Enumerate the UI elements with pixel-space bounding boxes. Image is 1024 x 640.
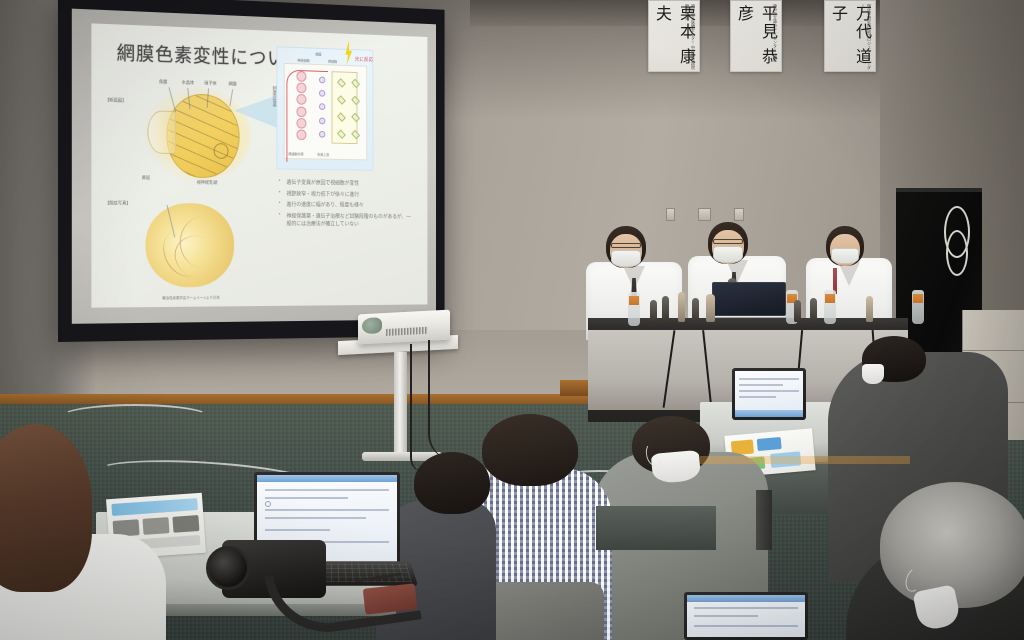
- projector-lens: [362, 317, 382, 334]
- smartphone[interactable]: [363, 583, 417, 614]
- bipolar-cell: [319, 104, 325, 111]
- microphone[interactable]: [706, 294, 715, 322]
- microphone[interactable]: [866, 296, 873, 322]
- eye-section-label: 【断面図】: [105, 97, 126, 104]
- rpe-layer-box: [332, 71, 358, 144]
- fundus-photo: [146, 203, 235, 288]
- rpe-cell: [351, 130, 360, 139]
- bullet-item: 遺伝子変異が原因で視細胞が変性: [278, 179, 413, 188]
- doc-line: [739, 396, 776, 398]
- slide-bullet-list: 遺伝子変異が原因で視細胞が変性 視野狭窄・視力低下が徐々に進行 進行の速度に幅が…: [278, 179, 413, 232]
- wall-switch-1[interactable]: [666, 208, 675, 221]
- press-laptop-right[interactable]: [732, 368, 806, 420]
- face-mask: [713, 246, 743, 263]
- hair: [414, 452, 490, 514]
- bullet-item: 進行の速度に幅があり、程度も様々: [278, 201, 413, 210]
- fundus-caption: 難治性疾患学会ホームページより引用: [140, 296, 242, 302]
- doc-line: [739, 384, 783, 386]
- retina-sublabel-neuron: 神経細胞: [297, 58, 309, 63]
- hair: [482, 414, 578, 486]
- doc-taskbar: [735, 410, 803, 417]
- wall-switch-3[interactable]: [734, 208, 744, 221]
- eye-label-lens: 水晶体: [182, 80, 194, 86]
- bipolar-cell: [319, 131, 325, 138]
- camera-lens: [206, 546, 250, 590]
- rod-cell: [296, 106, 306, 117]
- microphone[interactable]: [692, 298, 699, 322]
- doc-line: [694, 607, 798, 609]
- bipolar-cell: [319, 76, 325, 83]
- projector-vent: [386, 327, 428, 336]
- rpe-cell: [351, 113, 360, 122]
- signal-transmission-label: 刺激の伝達: [271, 86, 276, 107]
- face-mask: [831, 248, 859, 264]
- bipolar-cell: [319, 90, 325, 97]
- doc-line: [265, 517, 366, 519]
- press-laptop-bottom-lid: [684, 592, 808, 640]
- coiled-cable: [946, 230, 968, 276]
- microphone[interactable]: [810, 298, 817, 322]
- rod-cell: [296, 130, 306, 141]
- water-bottle[interactable]: [824, 290, 836, 324]
- eye-label-optic-disc: 視神経乳頭: [197, 180, 218, 186]
- microphone[interactable]: [650, 300, 657, 322]
- glasses-icon: [713, 239, 743, 244]
- fundus-section-label: 【眼底写真】: [105, 200, 130, 206]
- bullet-item: 視野狭窄・視力低下が徐々に進行: [278, 190, 413, 199]
- doc-line: [265, 529, 329, 531]
- desk-underside: [596, 506, 716, 550]
- rpe-cell: [337, 112, 346, 121]
- microphone[interactable]: [678, 292, 685, 322]
- desk-trim: [700, 456, 910, 464]
- slide-title: 網膜色素変性について: [117, 38, 304, 71]
- projector-stand-pole: [394, 352, 407, 456]
- rod-cell: [296, 118, 306, 129]
- doc-titlebar: [257, 475, 397, 482]
- cornea-shape: [147, 110, 176, 154]
- floor-cable-1: [60, 404, 210, 430]
- press-laptop-bottom-screen: [687, 595, 805, 637]
- doc-line: [265, 509, 388, 511]
- press-laptop-bottom-right[interactable]: [684, 592, 808, 640]
- press-laptop-right-lid: [732, 368, 806, 420]
- rod-cell: [296, 94, 306, 105]
- bipolar-cell: [319, 117, 325, 124]
- doc-titlebar: [687, 595, 805, 602]
- presentation-slide: 網膜色素変性について 角膜 水晶体 硝子体 網膜 【断面図】 黄斑: [91, 23, 427, 307]
- water-bottle[interactable]: [912, 290, 924, 324]
- bipolar-cell-column: [315, 73, 328, 142]
- nameplate-center: 平見 恭彦 神戸市立神戸アイセンター 病院: [730, 0, 782, 72]
- fundus-photograph-block: 【眼底写真】 難治性疾患学会ホームページより引用: [134, 199, 247, 302]
- handout-figure: [757, 437, 782, 451]
- water-bottle[interactable]: [628, 292, 640, 326]
- doc-line: [694, 625, 798, 627]
- eye-label-cornea: 角膜: [159, 79, 167, 85]
- screen-surface: 網膜色素変性について 角膜 水晶体 硝子体 網膜 【断面図】 黄斑: [72, 9, 436, 324]
- doc-line: [694, 615, 758, 617]
- nameplate-right: 万代 道子 理化学研究所 副プロジェクトリーダー: [824, 0, 876, 72]
- projector-cable-1: [428, 340, 454, 460]
- retina-bottom-label-outer: 視細胞外節: [288, 151, 303, 156]
- bullet-item: 神経保護薬・遺伝子治療など試験段階のものがあるが、一般的には治療法が確立していな…: [278, 212, 413, 228]
- eye-label-macula: 黄斑: [142, 175, 150, 181]
- panelist-laptop-screen: [712, 282, 786, 316]
- rpe-cell: [351, 96, 360, 105]
- retina-sublabel-photoreceptor: 視細胞: [328, 59, 337, 64]
- macula-marker: [214, 143, 229, 159]
- photoreceptor-column: [289, 70, 313, 141]
- rpe-cell: [337, 95, 346, 104]
- eye-label-retina: 網膜: [229, 81, 237, 87]
- wall-light-switches[interactable]: [666, 208, 748, 224]
- rod-cell: [296, 82, 306, 93]
- rpe-cell: [337, 78, 346, 87]
- retina-bottom-label-rhodopsin: 色素上皮: [317, 152, 329, 157]
- microphone[interactable]: [794, 300, 801, 322]
- doc-bullet: [265, 501, 271, 507]
- retina-layer-diagram: 網膜 神経細胞 視細胞: [276, 46, 373, 171]
- doc-line: [265, 497, 348, 499]
- nameplate-title: 神戸市立医療センター 中央市民病院 眼科部長: [684, 4, 696, 71]
- doc-line: [739, 378, 799, 380]
- nameplate-title: 神戸市立神戸アイセンター 病院: [772, 4, 778, 61]
- doc-line: [265, 489, 388, 491]
- doc-line: [739, 390, 799, 392]
- projector-cable-2: [410, 344, 424, 472]
- wall-switch-2[interactable]: [698, 208, 711, 221]
- press-laptop-right-screen: [735, 371, 803, 417]
- rpe-cell: [351, 79, 360, 88]
- retina-top-label: 網膜: [315, 52, 321, 57]
- retina-inner-box: 視細胞外節 色素上皮: [284, 63, 367, 160]
- rod-cell: [296, 71, 306, 82]
- nameplate-title: 理化学研究所 副プロジェクトリーダー: [860, 4, 872, 71]
- face-mask: [611, 250, 641, 267]
- press-conference-photo: 網膜色素変性について 角膜 水晶体 硝子体 網膜 【断面図】 黄斑: [0, 0, 1024, 640]
- cabinet-seam: [963, 350, 1024, 351]
- glasses-icon: [611, 243, 641, 248]
- handout-figure: [142, 517, 169, 535]
- desk-leg: [756, 490, 772, 550]
- eye-label-vitreous: 硝子体: [204, 81, 216, 87]
- light-response-label: 光に反応: [355, 56, 373, 63]
- rpe-cell: [337, 130, 346, 139]
- handout-figure: [172, 515, 199, 533]
- nameplate-left: 栗本 康夫 神戸市立医療センター 中央市民病院 眼科部長: [648, 0, 700, 72]
- projection-screen: 網膜色素変性について 角膜 水晶体 硝子体 網膜 【断面図】 黄斑: [58, 0, 445, 342]
- face-mask: [862, 364, 884, 384]
- handout-header: [111, 498, 198, 516]
- microphone[interactable]: [662, 296, 669, 322]
